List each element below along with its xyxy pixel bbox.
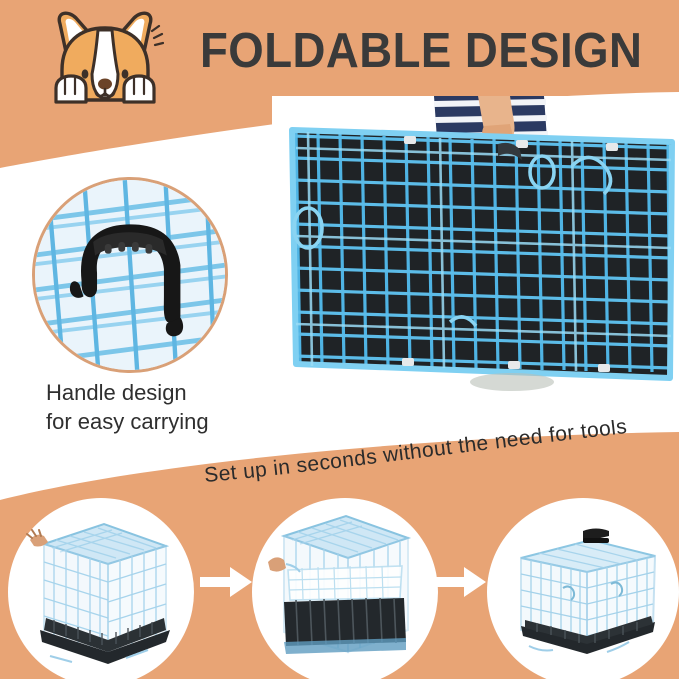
caption-line-1: Handle design <box>46 378 276 407</box>
handle-detail-circle <box>32 177 228 373</box>
hero-photo <box>272 96 679 396</box>
step-unfold-crate[interactable] <box>8 492 194 679</box>
setup-steps <box>0 492 679 679</box>
infographic-canvas: FOLDABLE DESIGN <box>0 0 679 679</box>
step-3-crate-image <box>495 506 671 676</box>
crate-handle-closeup <box>35 180 225 370</box>
right-arrow-icon <box>198 564 254 600</box>
header: FOLDABLE DESIGN <box>0 0 679 100</box>
step-1-crate-image <box>16 506 186 676</box>
folded-crate <box>292 130 672 378</box>
right-arrow-icon <box>432 564 488 600</box>
corgi-dog-logo <box>46 8 164 108</box>
handle-detail-caption: Handle design for easy carrying <box>46 378 276 436</box>
step-assembled-crate[interactable] <box>487 492 679 679</box>
person-carrying-folded-crate <box>272 96 679 396</box>
caption-line-2: for easy carrying <box>46 407 276 436</box>
step-2-crate-image <box>260 506 430 676</box>
page-title: FOLDABLE DESIGN <box>200 24 642 78</box>
step-fold-panels[interactable] <box>252 492 438 679</box>
